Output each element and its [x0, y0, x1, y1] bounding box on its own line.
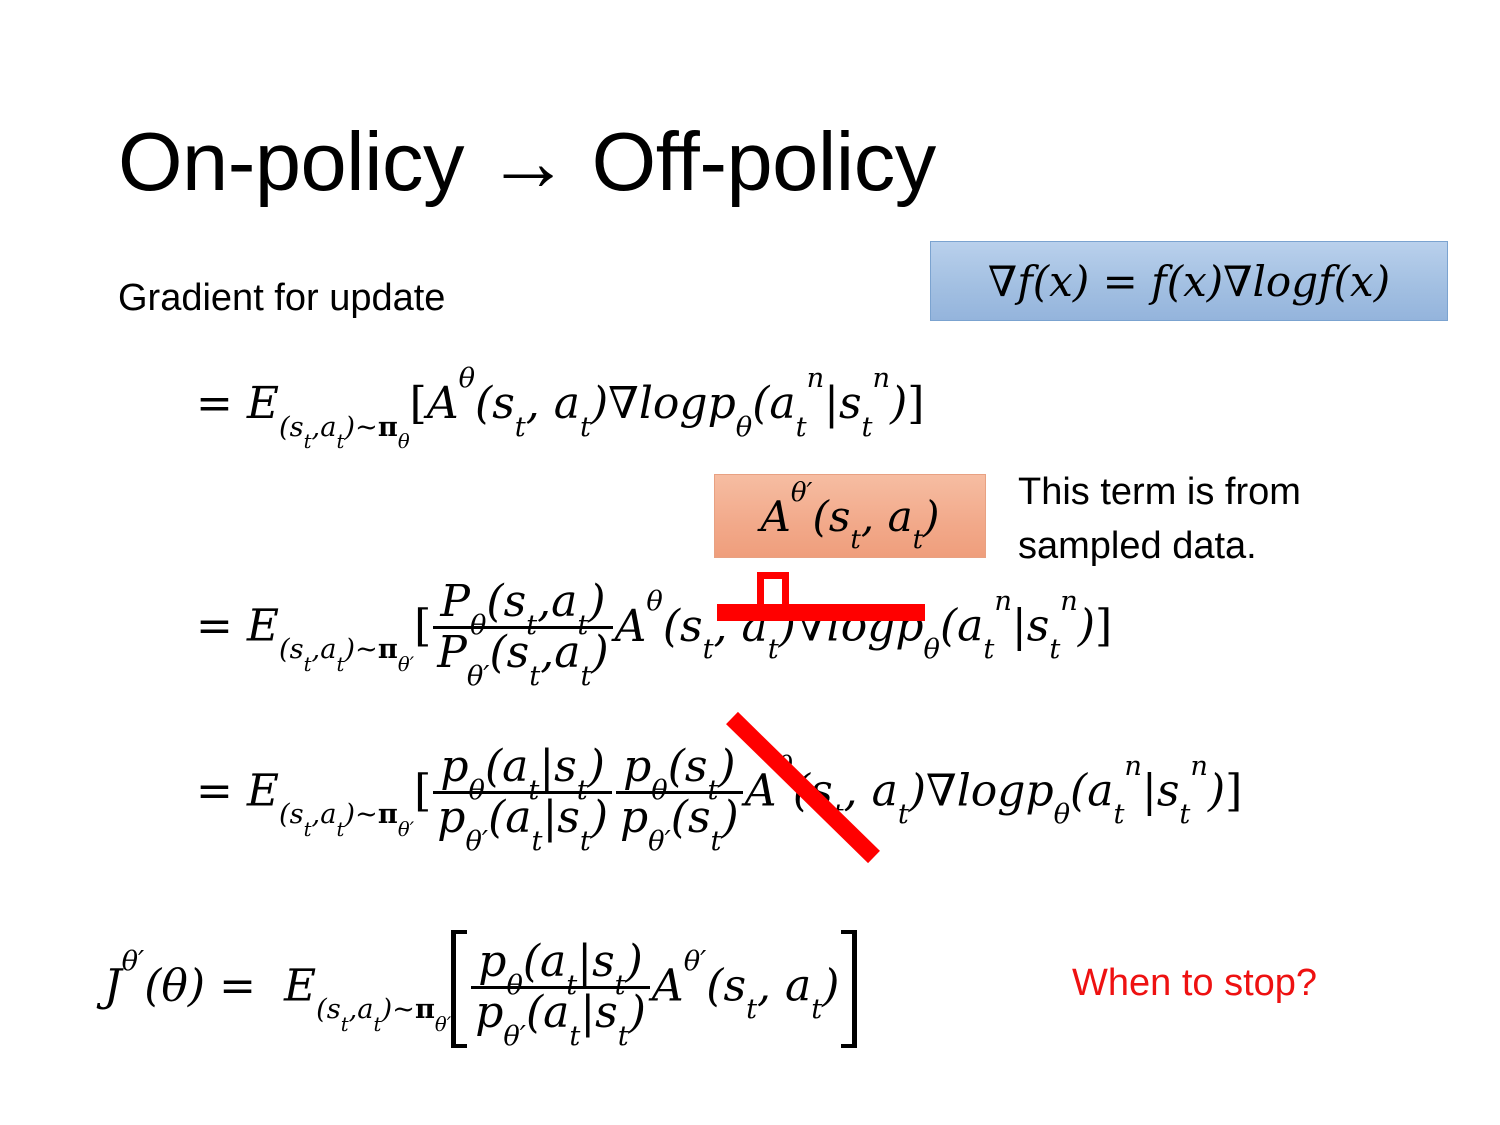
- expectation-operator: E: [247, 766, 279, 817]
- paren-open: (: [526, 987, 543, 1038]
- bracket-open-large: [451, 930, 467, 1048]
- equals-sign: =: [196, 766, 233, 817]
- paren-open: (: [475, 378, 492, 429]
- policy-ratio-fraction: pθ(at|st) pθ′(at|st): [433, 743, 612, 841]
- a-symbol: a: [551, 576, 577, 627]
- t-subscript: t: [746, 994, 757, 1025]
- t-subscript: t: [1049, 634, 1060, 665]
- theta-superscript: θ: [459, 363, 475, 394]
- s-symbol: s: [327, 994, 341, 1025]
- equation-3: = E(st,at)~πθ′[ pθ(at|st) pθ′(at|st) pθ(…: [196, 745, 1242, 843]
- paren-open: (: [663, 601, 680, 652]
- s-symbol: s: [290, 412, 304, 443]
- a-symbol: a: [540, 936, 566, 987]
- paren-open: (: [279, 634, 290, 665]
- gradient-for-update-label: Gradient for update: [118, 277, 445, 321]
- t-subscript: t: [703, 634, 714, 665]
- t-subscript: t: [580, 826, 591, 857]
- p-symbol: p: [440, 741, 468, 792]
- J-symbol: J: [104, 961, 122, 1012]
- p-symbol: p: [708, 378, 736, 429]
- t-subscript: t: [566, 970, 577, 1001]
- paren-open: (: [523, 936, 540, 987]
- equals-sign: =: [1089, 257, 1151, 306]
- A-symbol: A: [745, 766, 777, 817]
- theta-prime-subscript: θ′: [467, 661, 490, 692]
- tilde-operator: ~: [355, 634, 378, 665]
- t-subscript: t: [898, 799, 909, 830]
- p-symbol: p: [437, 792, 465, 843]
- t-subscript: t: [304, 818, 312, 841]
- s-symbol: s: [554, 741, 577, 792]
- n-superscript: n: [807, 363, 825, 394]
- n-superscript: n: [1190, 751, 1208, 782]
- theta-prime-subscript: θ′: [398, 818, 414, 841]
- comma: ,: [757, 961, 785, 1012]
- s-symbol: s: [685, 741, 708, 792]
- comma: ,: [312, 634, 321, 665]
- t-subscript: t: [711, 826, 722, 857]
- comma: ,: [540, 627, 554, 678]
- p-symbol: p: [478, 936, 506, 987]
- paren-open: (: [671, 792, 688, 843]
- comma: ,: [526, 378, 554, 429]
- paren-open: (: [490, 627, 507, 678]
- theta-prime-superscript: θ′: [684, 946, 707, 977]
- nabla-icon: ∇: [608, 378, 639, 429]
- fraction-numerator: pθ(at|st): [433, 743, 612, 794]
- fraction-numerator: pθ(st): [616, 743, 743, 794]
- comma: ,: [312, 412, 321, 443]
- comma: ,: [312, 799, 321, 830]
- s-symbol: s: [1027, 601, 1050, 652]
- paren-open: (: [812, 492, 828, 541]
- s-symbol: s: [829, 492, 851, 541]
- A-symbol: A: [761, 492, 791, 541]
- expectation-subscript: (st,at)~πθ′: [316, 994, 451, 1025]
- t-subscript: t: [811, 994, 822, 1025]
- theta-prime-subscript: θ′: [503, 1021, 526, 1052]
- paren-close: ): [1073, 257, 1089, 306]
- t-subscript: t: [528, 775, 539, 806]
- comma: ,: [537, 576, 551, 627]
- s-symbol: s: [839, 378, 862, 429]
- policy-ratio-fraction: pθ(at|st) pθ′(at|st): [471, 938, 650, 1036]
- paren-open: (: [940, 601, 957, 652]
- t-subscript: t: [304, 430, 312, 453]
- conditional-bar: |: [539, 741, 554, 792]
- n-superscript: n: [1060, 586, 1078, 617]
- t-subscript: t: [850, 525, 860, 555]
- theta-subscript: θ: [651, 775, 667, 806]
- t-subscript: t: [862, 412, 873, 443]
- tilde-operator: ~: [355, 412, 378, 443]
- s-symbol: s: [680, 601, 703, 652]
- P-symbol: P: [437, 627, 467, 678]
- log-operator: log: [1252, 257, 1318, 306]
- bracket-close-large: [841, 930, 857, 1048]
- theta-prime-subscript: θ′: [465, 826, 488, 857]
- bracket-close: ]: [1225, 766, 1242, 817]
- x-symbol: x: [1183, 257, 1207, 306]
- paren-open: (: [486, 576, 503, 627]
- equals-sign: =: [196, 378, 233, 429]
- a-symbol: a: [957, 601, 983, 652]
- paren-open: (: [1167, 257, 1183, 306]
- fraction-denominator: pθ′(st): [616, 794, 743, 842]
- A-symbol: A: [615, 601, 647, 652]
- a-symbol: a: [1087, 766, 1113, 817]
- theta-superscript: θ: [646, 586, 662, 617]
- paren-open: (: [1033, 257, 1049, 306]
- conditional-bar: |: [824, 378, 839, 429]
- paren-open: (: [793, 766, 810, 817]
- bracket-open: [: [414, 766, 431, 817]
- s-symbol: s: [592, 936, 615, 987]
- t-subscript: t: [526, 610, 537, 641]
- orange-advantage-box: Aθ′(st, at): [714, 474, 986, 558]
- s-symbol: s: [290, 634, 304, 665]
- theta-prime-subscript: θ′: [435, 1013, 451, 1036]
- t-subscript: t: [577, 775, 588, 806]
- A-symbol: A: [652, 961, 684, 1012]
- t-subscript: t: [529, 661, 540, 692]
- p-symbol: p: [475, 987, 503, 1038]
- paren-close: ): [588, 576, 605, 627]
- t-subscript: t: [833, 799, 844, 830]
- paren-close: ): [344, 412, 355, 443]
- paren-close: ): [890, 378, 907, 429]
- a-symbol: a: [320, 799, 336, 830]
- when-to-stop-note: When to stop?: [1072, 962, 1317, 1005]
- expectation-operator: E: [247, 378, 279, 429]
- paren-close: ): [718, 741, 735, 792]
- paren-open: (: [706, 961, 723, 1012]
- nabla-icon: ∇: [1223, 257, 1252, 306]
- fraction-numerator: pθ(at|st): [471, 938, 650, 989]
- a-symbol: a: [888, 492, 913, 541]
- equation-4-objective: Jθ′(θ) = E(st,at)~πθ′ pθ(at|st) pθ′(at|s…: [104, 930, 857, 1048]
- expectation-subscript: (st,at)~πθ: [279, 412, 410, 443]
- t-subscript: t: [374, 1013, 382, 1036]
- page-title: On-policy → Off-policy: [118, 118, 936, 205]
- paren-close: ): [626, 936, 643, 987]
- t-subscript: t: [531, 826, 542, 857]
- f-symbol: f: [1318, 257, 1334, 306]
- theta-prime-subscript: θ′: [398, 653, 414, 676]
- comma: ,: [861, 492, 888, 541]
- conditional-bar: |: [1142, 766, 1157, 817]
- n-superscript: n: [873, 363, 891, 394]
- a-symbol: a: [769, 378, 795, 429]
- p-symbol: p: [620, 792, 648, 843]
- expectation-subscript: (st,at)~πθ′: [279, 799, 414, 830]
- pi-symbol: π: [378, 798, 398, 830]
- t-subscript: t: [1179, 799, 1190, 830]
- a-symbol: a: [357, 994, 373, 1025]
- sampled-data-note: This term is from sampled data.: [1018, 466, 1418, 574]
- pi-symbol: π: [378, 411, 398, 443]
- state-ratio-fraction-struck: pθ(st) pθ′(st): [616, 743, 743, 841]
- p-symbol: p: [623, 741, 651, 792]
- paren-close: ): [591, 792, 608, 843]
- paren-open: (: [144, 961, 161, 1012]
- theta-symbol: θ: [161, 961, 188, 1012]
- bracket-open: [: [410, 378, 427, 429]
- paren-open: (: [752, 378, 769, 429]
- s-symbol: s: [492, 378, 515, 429]
- t-subscript: t: [983, 634, 994, 665]
- equation-2: = E(st,at)~πθ′[ Pθ(st,at) Pθ′(st,at) Aθ(…: [196, 580, 1112, 678]
- nabla-icon: ∇: [988, 257, 1017, 306]
- t-subscript: t: [580, 661, 591, 692]
- n-superscript: n: [1124, 751, 1142, 782]
- paren-close: ): [591, 627, 608, 678]
- paren-close: ): [591, 378, 608, 429]
- paren-close: ): [923, 492, 939, 541]
- t-subscript: t: [577, 610, 588, 641]
- comma: ,: [844, 766, 872, 817]
- s-symbol: s: [1157, 766, 1180, 817]
- t-subscript: t: [913, 525, 923, 555]
- paren-open: (: [485, 741, 502, 792]
- tilde-operator: ~: [355, 799, 378, 830]
- log-operator: log: [639, 378, 708, 429]
- paren-close: ): [822, 961, 839, 1012]
- a-symbol: a: [502, 741, 528, 792]
- pi-symbol: π: [378, 633, 398, 665]
- t-subscript: t: [796, 412, 807, 443]
- paren-open: (: [1334, 257, 1350, 306]
- theta-subscript: θ: [924, 634, 940, 665]
- advantage-formula: Aθ′(st, at): [761, 492, 940, 541]
- paren-close: ): [1374, 257, 1390, 306]
- theta-subscript: θ: [736, 412, 752, 443]
- t-subscript: t: [341, 1013, 349, 1036]
- paren-close: ): [1078, 601, 1095, 652]
- expectation-subscript: (st,at)~πθ′: [279, 634, 414, 665]
- expectation-operator: E: [247, 601, 279, 652]
- conditional-bar: |: [1012, 601, 1027, 652]
- a-symbol: a: [872, 766, 898, 817]
- paren-open: (: [279, 412, 290, 443]
- a-symbol: a: [320, 412, 336, 443]
- theta-subscript: θ: [1054, 799, 1070, 830]
- theta-subscript: θ: [398, 430, 410, 453]
- fraction-numerator: Pθ(st,at): [433, 578, 612, 629]
- blue-identity-box: ∇f(x) = f(x)∇logf(x): [930, 241, 1448, 321]
- pi-symbol: π: [415, 993, 435, 1025]
- n-superscript: n: [994, 586, 1012, 617]
- paren-open: (: [279, 799, 290, 830]
- conditional-bar: |: [542, 792, 557, 843]
- expectation-operator: E: [284, 961, 316, 1012]
- t-subscript: t: [336, 653, 344, 676]
- s-symbol: s: [810, 766, 833, 817]
- probability-ratio-fraction: Pθ(st,at) Pθ′(st,at): [433, 578, 612, 676]
- red-highlight-rectangle: [757, 572, 789, 610]
- x-symbol: x: [1049, 257, 1073, 306]
- x-symbol: x: [1350, 257, 1374, 306]
- slide-canvas: On-policy → Off-policy Gradient for upda…: [0, 0, 1500, 1125]
- f-symbol: f: [1151, 257, 1167, 306]
- conditional-bar: |: [577, 936, 592, 987]
- paren-close: ): [188, 961, 205, 1012]
- paren-close: ): [381, 994, 392, 1025]
- f-symbol: f: [1017, 257, 1033, 306]
- s-symbol: s: [723, 961, 746, 1012]
- s-symbol: s: [504, 576, 527, 627]
- a-symbol: a: [320, 634, 336, 665]
- red-strikethrough-bar: [717, 604, 925, 621]
- paren-close: ): [909, 766, 926, 817]
- conditional-bar: |: [580, 987, 595, 1038]
- paren-open: (: [668, 741, 685, 792]
- theta-prime-superscript: θ′: [791, 478, 813, 508]
- identity-formula: ∇f(x) = f(x)∇logf(x): [988, 257, 1390, 306]
- paren-close: ): [1207, 257, 1223, 306]
- paren-close: ): [344, 799, 355, 830]
- t-subscript: t: [515, 412, 526, 443]
- s-symbol: s: [290, 799, 304, 830]
- t-subscript: t: [336, 430, 344, 453]
- paren-open: (: [488, 792, 505, 843]
- log-operator: log: [957, 766, 1026, 817]
- t-subscript: t: [1113, 799, 1124, 830]
- bracket-close: ]: [907, 378, 924, 429]
- P-symbol: P: [440, 576, 470, 627]
- t-subscript: t: [618, 1021, 629, 1052]
- t-subscript: t: [615, 970, 626, 1001]
- tilde-operator: ~: [392, 994, 415, 1025]
- theta-superscript: θ: [776, 751, 792, 782]
- t-subscript: t: [580, 412, 591, 443]
- equation-1: = E(st,at)~πθ[Aθ(st, at)∇logpθ(atn|stn)]: [196, 378, 924, 429]
- A-symbol: A: [427, 378, 459, 429]
- paren-open: (: [316, 994, 327, 1025]
- t-subscript: t: [768, 634, 779, 665]
- paren-close: ): [629, 987, 646, 1038]
- t-subscript: t: [304, 653, 312, 676]
- comma: ,: [349, 994, 358, 1025]
- paren-close: ): [722, 792, 739, 843]
- p-symbol: p: [1025, 766, 1053, 817]
- t-subscript: t: [336, 818, 344, 841]
- nabla-icon: ∇: [926, 766, 957, 817]
- bracket-open: [: [414, 601, 431, 652]
- theta-prime-subscript: θ′: [648, 826, 671, 857]
- paren-open: (: [1070, 766, 1087, 817]
- t-subscript: t: [707, 775, 718, 806]
- paren-close: ): [588, 741, 605, 792]
- theta-prime-superscript: θ′: [122, 946, 145, 977]
- a-symbol: a: [785, 961, 811, 1012]
- bracket-close: ]: [1095, 601, 1112, 652]
- theta-subscript: θ: [469, 775, 485, 806]
- theta-subscript: θ: [470, 610, 486, 641]
- paren-close: ): [344, 634, 355, 665]
- equals-sign: =: [219, 961, 256, 1012]
- t-subscript: t: [569, 1021, 580, 1052]
- paren-close: ): [1208, 766, 1225, 817]
- equals-sign: =: [196, 601, 233, 652]
- a-symbol: a: [554, 378, 580, 429]
- theta-subscript: θ: [506, 970, 522, 1001]
